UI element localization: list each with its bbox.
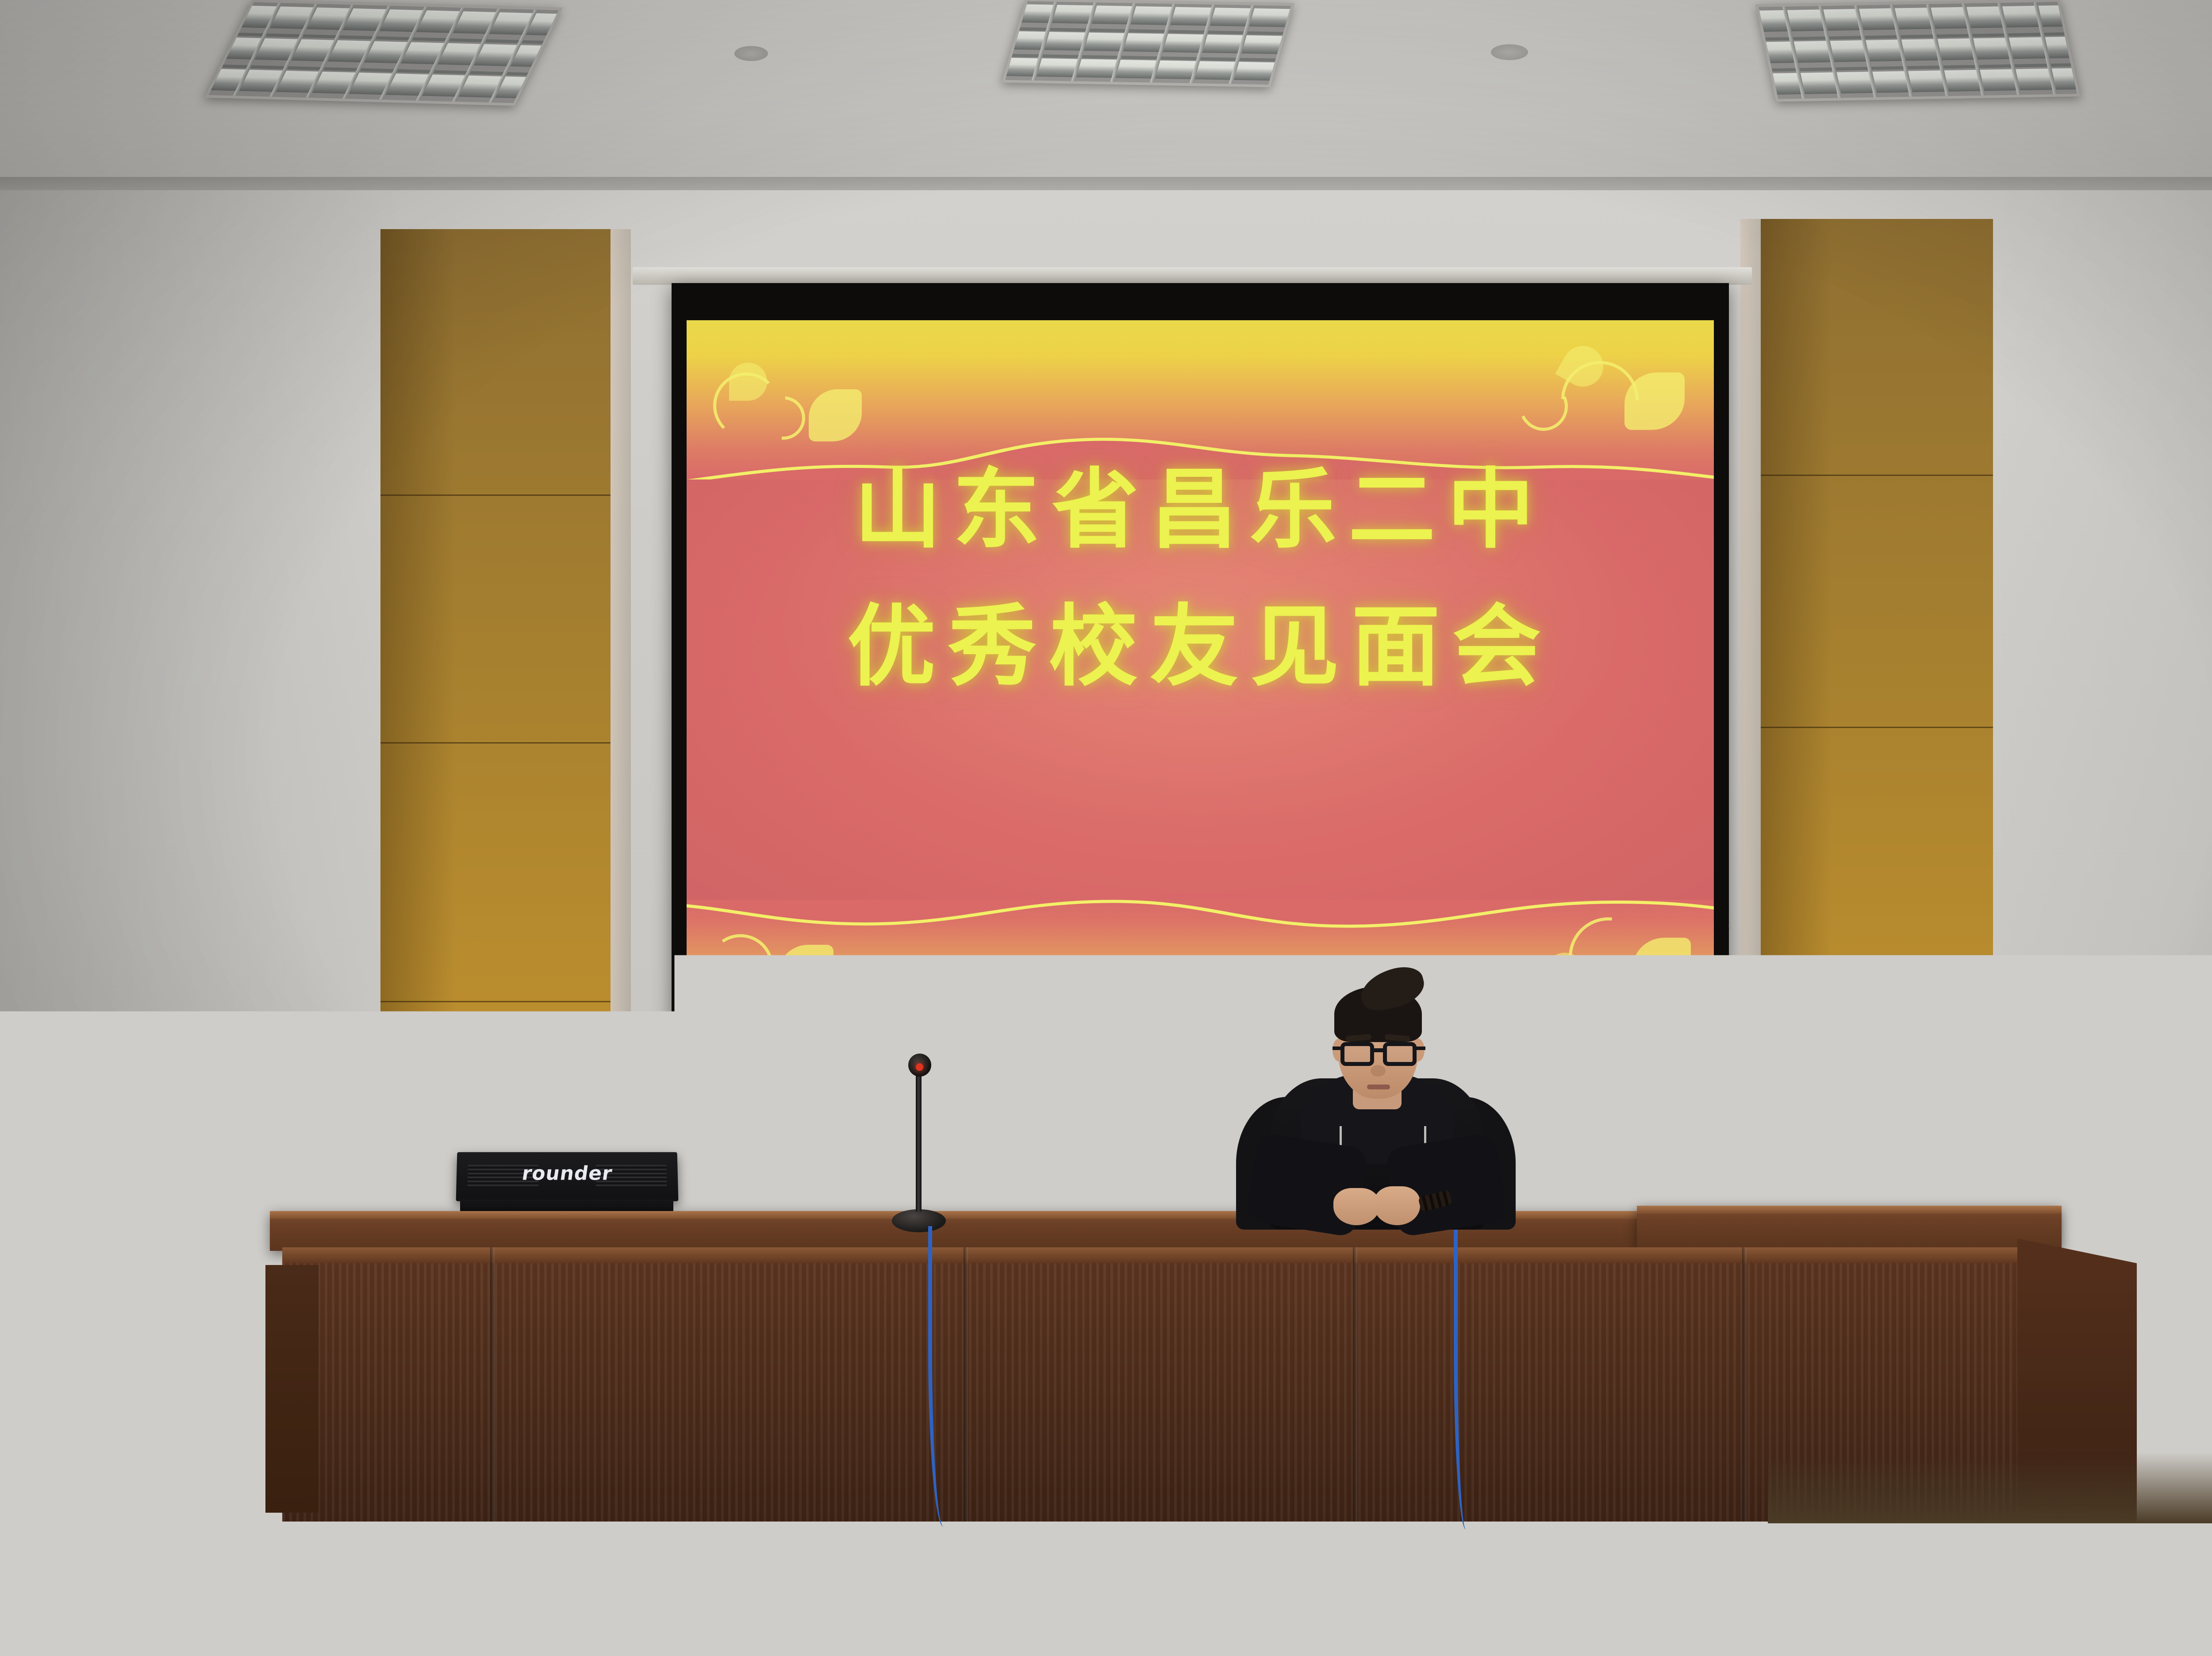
slide-border-bottom [687,900,1714,1046]
microphone-led-icon [916,1063,923,1071]
glasses-temple-right [1416,1046,1425,1050]
person-hand-right [1374,1186,1420,1225]
projector-screen-housing [633,267,1752,285]
glasses-temple-left [1333,1046,1342,1050]
conference-room-photo: 山东省昌乐二中 优秀校友见面会 rounder [0,0,2212,1656]
projector-screen-surface: 山东省昌乐二中 优秀校友见面会 [687,320,1714,1046]
founder-monitor[interactable]: rounder [456,1152,679,1201]
slide-petal-tl [729,363,767,401]
ceiling-spot-center [1491,44,1528,60]
person-mouth [1367,1085,1390,1089]
wall-column-right [1761,219,1993,1236]
wall-column-left [380,229,611,1233]
conference-table-left-return [265,1265,319,1513]
ceiling-light-center [1002,0,1294,87]
slide-title-block: 山东省昌乐二中 优秀校友见面会 [687,466,1714,691]
wall-shadow-right [1998,190,2212,1283]
ceiling-light-right [1755,0,2080,102]
glasses-lens-right [1383,1042,1417,1066]
ceiling-spot-left [734,46,768,61]
table-panel-seam-2 [964,1247,968,1522]
wall-shadow-left [0,190,398,1283]
glasses-bridge [1373,1048,1384,1052]
slide-wave-bottom [687,900,1714,959]
person-hand-left [1333,1188,1379,1225]
microphone-gooseneck [916,1063,922,1212]
slide-title-line-1: 山东省昌乐二中 [687,466,1714,553]
table-panel-seam-3 [1353,1247,1357,1522]
foreground-band [0,1502,2212,1656]
ceiling-light-left [204,0,562,106]
seated-person [1234,964,1517,1230]
wall-column-left-edge [611,229,631,1233]
slide-title-line-2: 优秀校友见面会 [687,602,1714,691]
table-panel-seam-4 [1742,1247,1747,1522]
table-panel-seam-1 [490,1247,495,1522]
glasses-lens-left [1340,1042,1374,1066]
person-nose [1371,1065,1386,1077]
monitor-brand-label: rounder [520,1162,614,1184]
conference-table-top-right-wing [1637,1206,2062,1248]
wall-column-right-edge [1740,219,1761,1236]
slide-border-top [687,320,1714,479]
